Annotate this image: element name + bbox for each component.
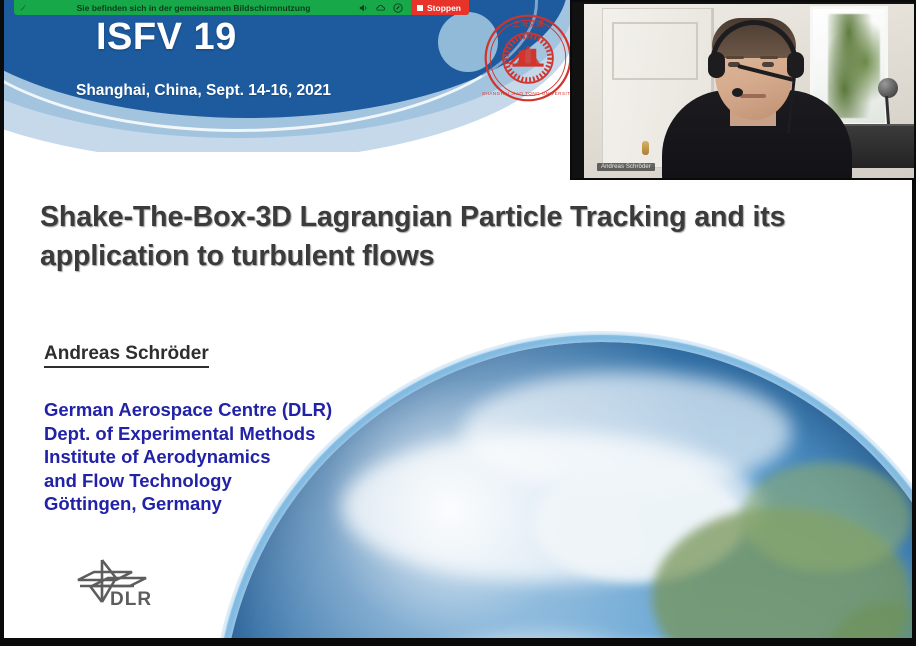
shanghai-jiao-tong-university-seal-icon: 上海交通 SHANGHAI JIAO TONG UNIVERSITY bbox=[482, 12, 574, 104]
letterbox-left bbox=[0, 0, 4, 646]
svg-text:SHANGHAI JIAO TONG UNIVERSITY: SHANGHAI JIAO TONG UNIVERSITY bbox=[482, 91, 574, 96]
share-screen-icon bbox=[14, 3, 32, 12]
stop-square-icon bbox=[417, 5, 423, 11]
dlr-logo: DLR bbox=[72, 556, 182, 618]
zoom-screen-share-window: Knowledge for Tomorrow ISFV 19 Shanghai,… bbox=[0, 0, 916, 646]
cloud-icon[interactable] bbox=[376, 3, 386, 13]
participant-name-label: Andreas Schröder bbox=[597, 163, 655, 171]
stop-share-label: Stoppen bbox=[427, 3, 461, 13]
banner-subtitle: Shanghai, China, Sept. 14-16, 2021 bbox=[76, 82, 331, 100]
author-name: Andreas Schröder bbox=[44, 343, 209, 368]
page-title: Shake-The-Box-3D Lagrangian Particle Tra… bbox=[40, 198, 880, 276]
banner-title: ISFV 19 bbox=[96, 16, 237, 59]
stop-share-button[interactable]: Stoppen bbox=[411, 0, 469, 15]
annotate-icon[interactable] bbox=[393, 3, 403, 13]
speaker-mute-icon[interactable] bbox=[359, 3, 369, 13]
share-toolbar-icons bbox=[355, 3, 411, 13]
webcam-video-panel[interactable]: Andreas Schröder bbox=[570, 0, 916, 180]
headset-microphone bbox=[732, 88, 743, 97]
screen-share-toolbar[interactable]: Sie befinden sich in der gemeinsamen Bil… bbox=[14, 0, 469, 15]
share-status-text: Sie befinden sich in der gemeinsamen Bil… bbox=[32, 3, 355, 13]
webcam-person-mouth bbox=[740, 94, 766, 98]
affiliation-block: German Aerospace Centre (DLR) Dept. of E… bbox=[44, 398, 332, 516]
svg-text:上海交通: 上海交通 bbox=[512, 19, 543, 29]
webcam-plant bbox=[828, 14, 880, 118]
headset-earcup-left bbox=[708, 52, 725, 78]
webcam-door-handle bbox=[642, 141, 649, 155]
dlr-logo-text: DLR bbox=[110, 589, 152, 611]
letterbox-bottom bbox=[0, 638, 916, 646]
webcam-video-feed: Andreas Schröder bbox=[584, 4, 914, 178]
